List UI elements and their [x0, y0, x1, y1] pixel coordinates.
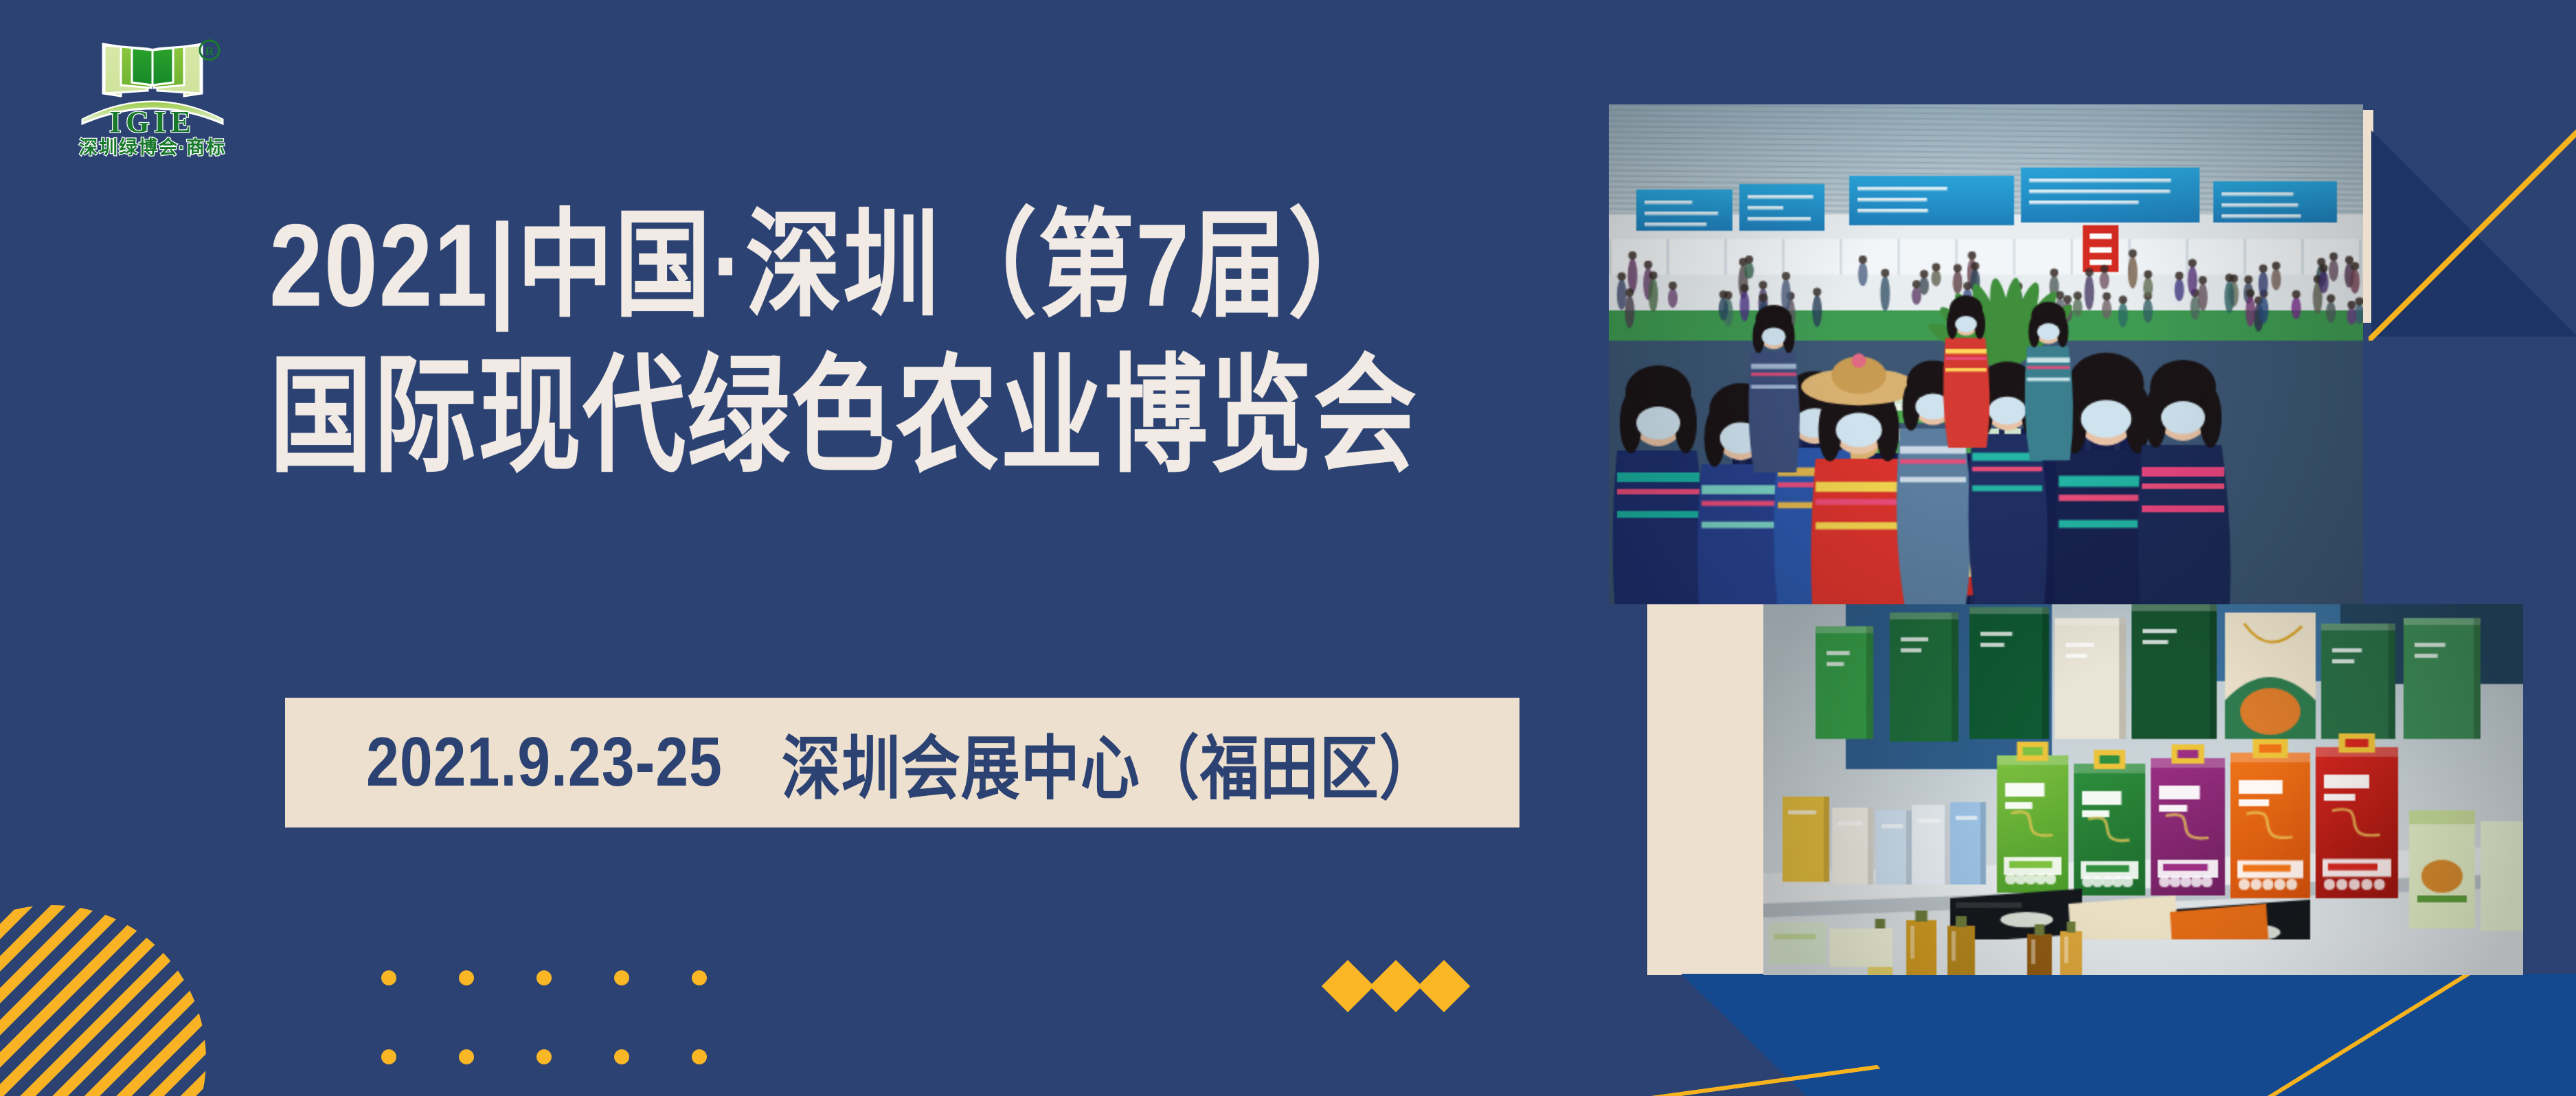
date-venue-bar: 2021.9.23-25 深圳会展中心（福田区）	[285, 698, 1519, 827]
rice-products-display-photo	[1763, 604, 2523, 975]
diamond	[1370, 960, 1422, 1012]
logo-chinese-name: 深圳绿博会·商标	[79, 137, 226, 158]
exhibition-crowd-photo	[1609, 104, 2363, 604]
yellow-diagonal-line-bottom-right	[2267, 971, 2473, 1096]
dot	[536, 1049, 552, 1064]
yellow-diagonal-line-top	[2369, 128, 2576, 341]
striped-quarter-circle-decor	[0, 905, 206, 1096]
beige-block-bottom	[1647, 604, 1763, 975]
title-line-1: 2021|中国·深圳（第7届）	[269, 206, 1574, 326]
dot	[381, 970, 396, 985]
dot	[536, 970, 552, 985]
logo-acronym: IGIE	[109, 105, 196, 139]
exhibition-crowd-canvas	[1609, 104, 2363, 604]
dot-grid-decor	[381, 970, 707, 1064]
event-venue: 深圳会展中心（福田区）	[782, 712, 1439, 814]
open-book-green-field-logo-icon: R IGIE 深圳绿博会·商标	[49, 16, 256, 168]
dot	[459, 970, 474, 985]
svg-text:R: R	[205, 45, 214, 58]
dot	[614, 970, 629, 985]
diamond	[1322, 960, 1374, 1012]
dot	[614, 1049, 629, 1064]
diamond-row-decor	[1325, 961, 1467, 1011]
diamond	[1418, 960, 1470, 1012]
title-line-2: 国际现代绿色农业博览会	[269, 351, 1574, 481]
dot	[381, 1049, 396, 1064]
dot	[459, 1049, 474, 1064]
dot	[692, 970, 707, 985]
dot	[692, 1049, 707, 1064]
exhibition-banner: R IGIE 深圳绿博会·商标 2021|中国·深圳（第7届） 国际现代绿色农业…	[0, 0, 2576, 1096]
event-date: 2021.9.23-25	[366, 722, 723, 803]
page-title: 2021|中国·深圳（第7届） 国际现代绿色农业博览会	[269, 206, 1574, 456]
rice-products-canvas	[1763, 604, 2523, 975]
igie-logo[interactable]: R IGIE 深圳绿博会·商标	[49, 16, 256, 168]
